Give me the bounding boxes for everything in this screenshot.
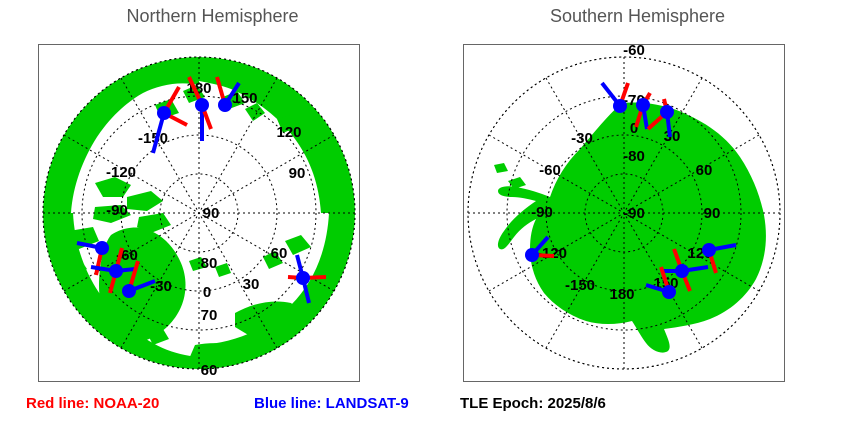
southern-label-60: 60 [696, 162, 713, 179]
northern-label-neg90: -90 [106, 202, 128, 219]
northern-polar-plot: 180 150 120 90 60 30 0 -30 -60 -90 -120 … [39, 45, 359, 381]
northern-label-neg120: -120 [106, 164, 136, 181]
northern-rlabel-70: 70 [201, 307, 218, 324]
northern-label-150: 150 [232, 90, 257, 107]
northern-rlabel-90: 90 [203, 205, 220, 222]
northern-panel-title: Northern Hemisphere [0, 6, 425, 27]
northern-label-neg150: -150 [138, 130, 168, 147]
legend-red-line: Red line: NOAA-20 [26, 395, 159, 412]
southern-label-30: 30 [664, 128, 681, 145]
northern-label-60: 60 [271, 245, 288, 262]
legend-blue-line: Blue line: LANDSAT-9 [254, 395, 409, 412]
northern-label-30: 30 [243, 276, 260, 293]
southern-label-neg60: -60 [539, 162, 561, 179]
southern-rlabel-neg80: -80 [623, 148, 645, 165]
southern-label-neg90: -90 [531, 204, 553, 221]
southern-polar-plot: 0 30 60 90 120 150 180 -150 -120 -90 -60… [464, 45, 784, 381]
southern-rlabel-neg90: -90 [623, 205, 645, 222]
southern-panel-title: Southern Hemisphere [425, 6, 850, 27]
northern-plot-frame: 180 150 120 90 60 30 0 -30 -60 -90 -120 … [38, 44, 360, 382]
northern-label-120: 120 [276, 124, 301, 141]
northern-rlabel-80: 80 [201, 255, 218, 272]
northern-label-90: 90 [289, 165, 306, 182]
southern-label-180: 180 [609, 286, 634, 303]
southern-label-neg150: -150 [565, 277, 595, 294]
southern-label-90: 90 [704, 205, 721, 222]
southern-hemisphere-panel: Southern Hemisphere [425, 0, 850, 395]
southern-label-neg30: -30 [571, 130, 593, 147]
northern-label-0: 0 [203, 284, 211, 301]
northern-rlabel-60: 60 [201, 362, 218, 379]
legend-bar: Red line: NOAA-20 Blue line: LANDSAT-9 T… [0, 393, 850, 419]
legend-tle-epoch: TLE Epoch: 2025/8/6 [460, 395, 606, 412]
northern-hemisphere-panel: Northern Hemisphere [0, 0, 425, 395]
southern-rlabel-neg60: -60 [623, 45, 645, 59]
southern-plot-frame: 0 30 60 90 120 150 180 -150 -120 -90 -60… [463, 44, 785, 382]
